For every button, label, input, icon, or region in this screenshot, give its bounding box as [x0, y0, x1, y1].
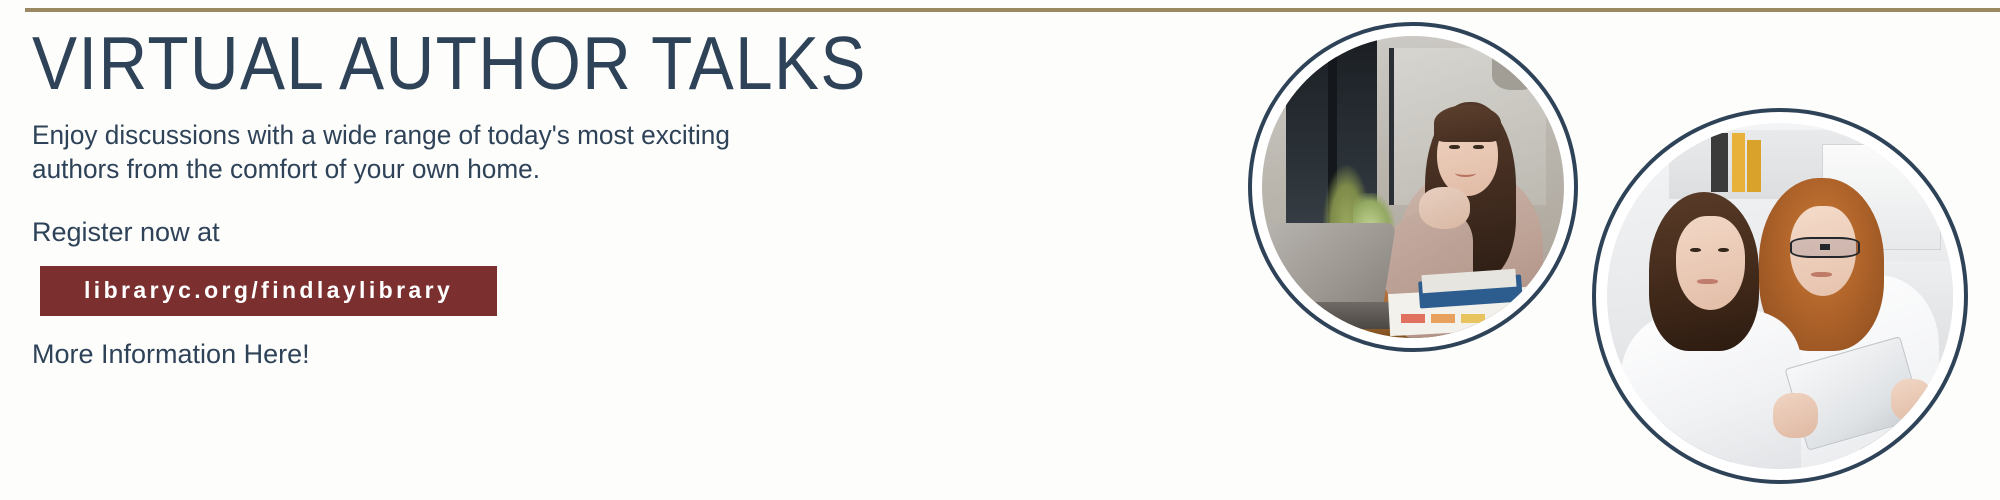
register-label: Register now at	[32, 216, 972, 248]
registration-url-button[interactable]: libraryc.org/findlaylibrary	[40, 266, 497, 316]
photo-one-scene	[1262, 36, 1564, 338]
virtual-author-talks-banner: VIRTUAL AUTHOR TALKS Enjoy discussions w…	[0, 0, 2000, 500]
photo-woman-smiling-at-laptop	[1262, 36, 1564, 338]
more-information-link[interactable]: More Information Here!	[32, 338, 972, 370]
photo-two-scene	[1607, 123, 1953, 469]
banner-text-column: VIRTUAL AUTHOR TALKS Enjoy discussions w…	[32, 22, 972, 370]
page-title: VIRTUAL AUTHOR TALKS	[32, 22, 878, 104]
photo-two-women-viewing-tablet	[1607, 123, 1953, 469]
banner-subheading: Enjoy discussions with a wide range of t…	[32, 118, 808, 186]
top-gold-rule	[25, 8, 2000, 12]
